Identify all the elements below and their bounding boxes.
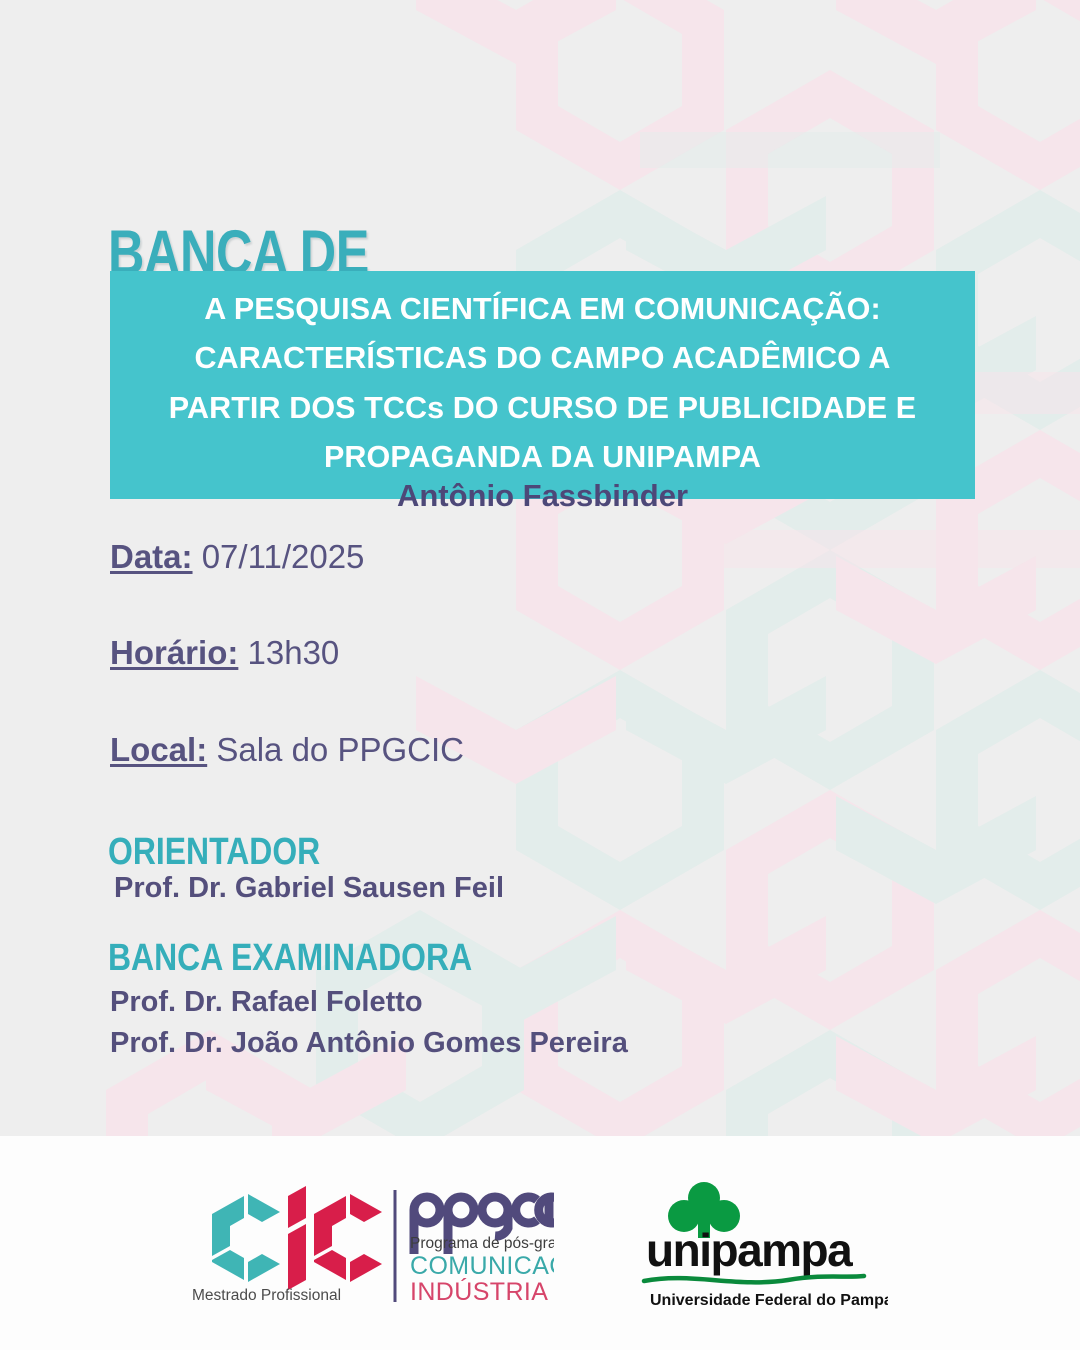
unipampa-logo: unipampa Universidade Federal do Pampa [628, 1174, 888, 1314]
footer-logo-bar: Mestrado Profissional [0, 1136, 1080, 1350]
detail-label-local: Local: [110, 731, 207, 768]
ppgcic-tagline: Mestrado Profissional [192, 1287, 341, 1304]
ppgcic-line-industria-criativa: INDÚSTRIA CRIATIVA [410, 1277, 554, 1306]
detail-label-data: Data: [110, 538, 193, 575]
work-title-line-1: A PESQUISA CIENTÍFICA EM COMUNICAÇÃO: [122, 285, 963, 334]
ppgcic-line-comunicacao: COMUNICAÇÃO [410, 1251, 554, 1280]
detail-row-data: Data: 07/11/2025 [110, 538, 364, 576]
committee-member: Prof. Dr. João Antônio Gomes Pereira [110, 1027, 628, 1060]
work-title-line-4: PROPAGANDA DA UNIPAMPA [122, 433, 963, 482]
detail-value-local: Sala do PPGCIC [216, 731, 464, 768]
committee-member: Prof. Dr. Rafael Foletto [110, 986, 423, 1019]
ppgcic-logo: Mestrado Profissional [182, 1184, 554, 1306]
section-heading-orientador: ORIENTADOR [108, 831, 320, 874]
detail-label-horario: Horário: [110, 634, 238, 671]
author-name: Antônio Fassbinder [110, 478, 975, 514]
detail-row-horario: Horário: 13h30 [110, 634, 339, 672]
unipampa-wordmark: unipampa [646, 1224, 853, 1276]
work-title-line-2: CARACTERÍSTICAS DO CAMPO ACADÊMICO A [122, 334, 963, 383]
ppgcic-subtitle: Programa de pós-graduação em [410, 1235, 554, 1252]
unipampa-wave [644, 1276, 864, 1282]
advisor-name: Prof. Dr. Gabriel Sausen Feil [114, 872, 504, 905]
detail-row-local: Local: Sala do PPGCIC [110, 731, 464, 769]
work-title-banner: A PESQUISA CIENTÍFICA EM COMUNICAÇÃO: CA… [110, 271, 975, 499]
poster-canvas: BANCA DE QUALIFICAÇÃO A PESQUISA CIENTÍF… [0, 0, 1080, 1350]
section-heading-banca-examinadora: BANCA EXAMINADORA [108, 937, 472, 980]
work-title-line-3: PARTIR DOS TCCs DO CURSO DE PUBLICIDADE … [122, 384, 963, 433]
detail-value-horario: 13h30 [248, 634, 340, 671]
unipampa-subtitle: Universidade Federal do Pampa [650, 1292, 888, 1309]
detail-value-data: 07/11/2025 [202, 538, 365, 575]
cic-hexagon-mark [212, 1186, 382, 1290]
